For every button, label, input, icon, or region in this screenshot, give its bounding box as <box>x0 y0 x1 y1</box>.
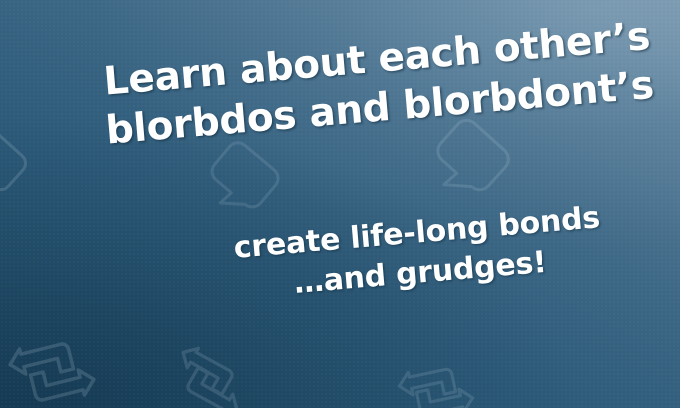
slide-text-layer: Learn about each other’s blorbdos and bl… <box>0 0 680 408</box>
presentation-slide: Learn about each other’s blorbdos and bl… <box>0 0 680 408</box>
slide-title: Learn about each other’s blorbdos and bl… <box>52 14 628 159</box>
slide-body: create life-long bonds …and grudges! <box>196 195 641 312</box>
